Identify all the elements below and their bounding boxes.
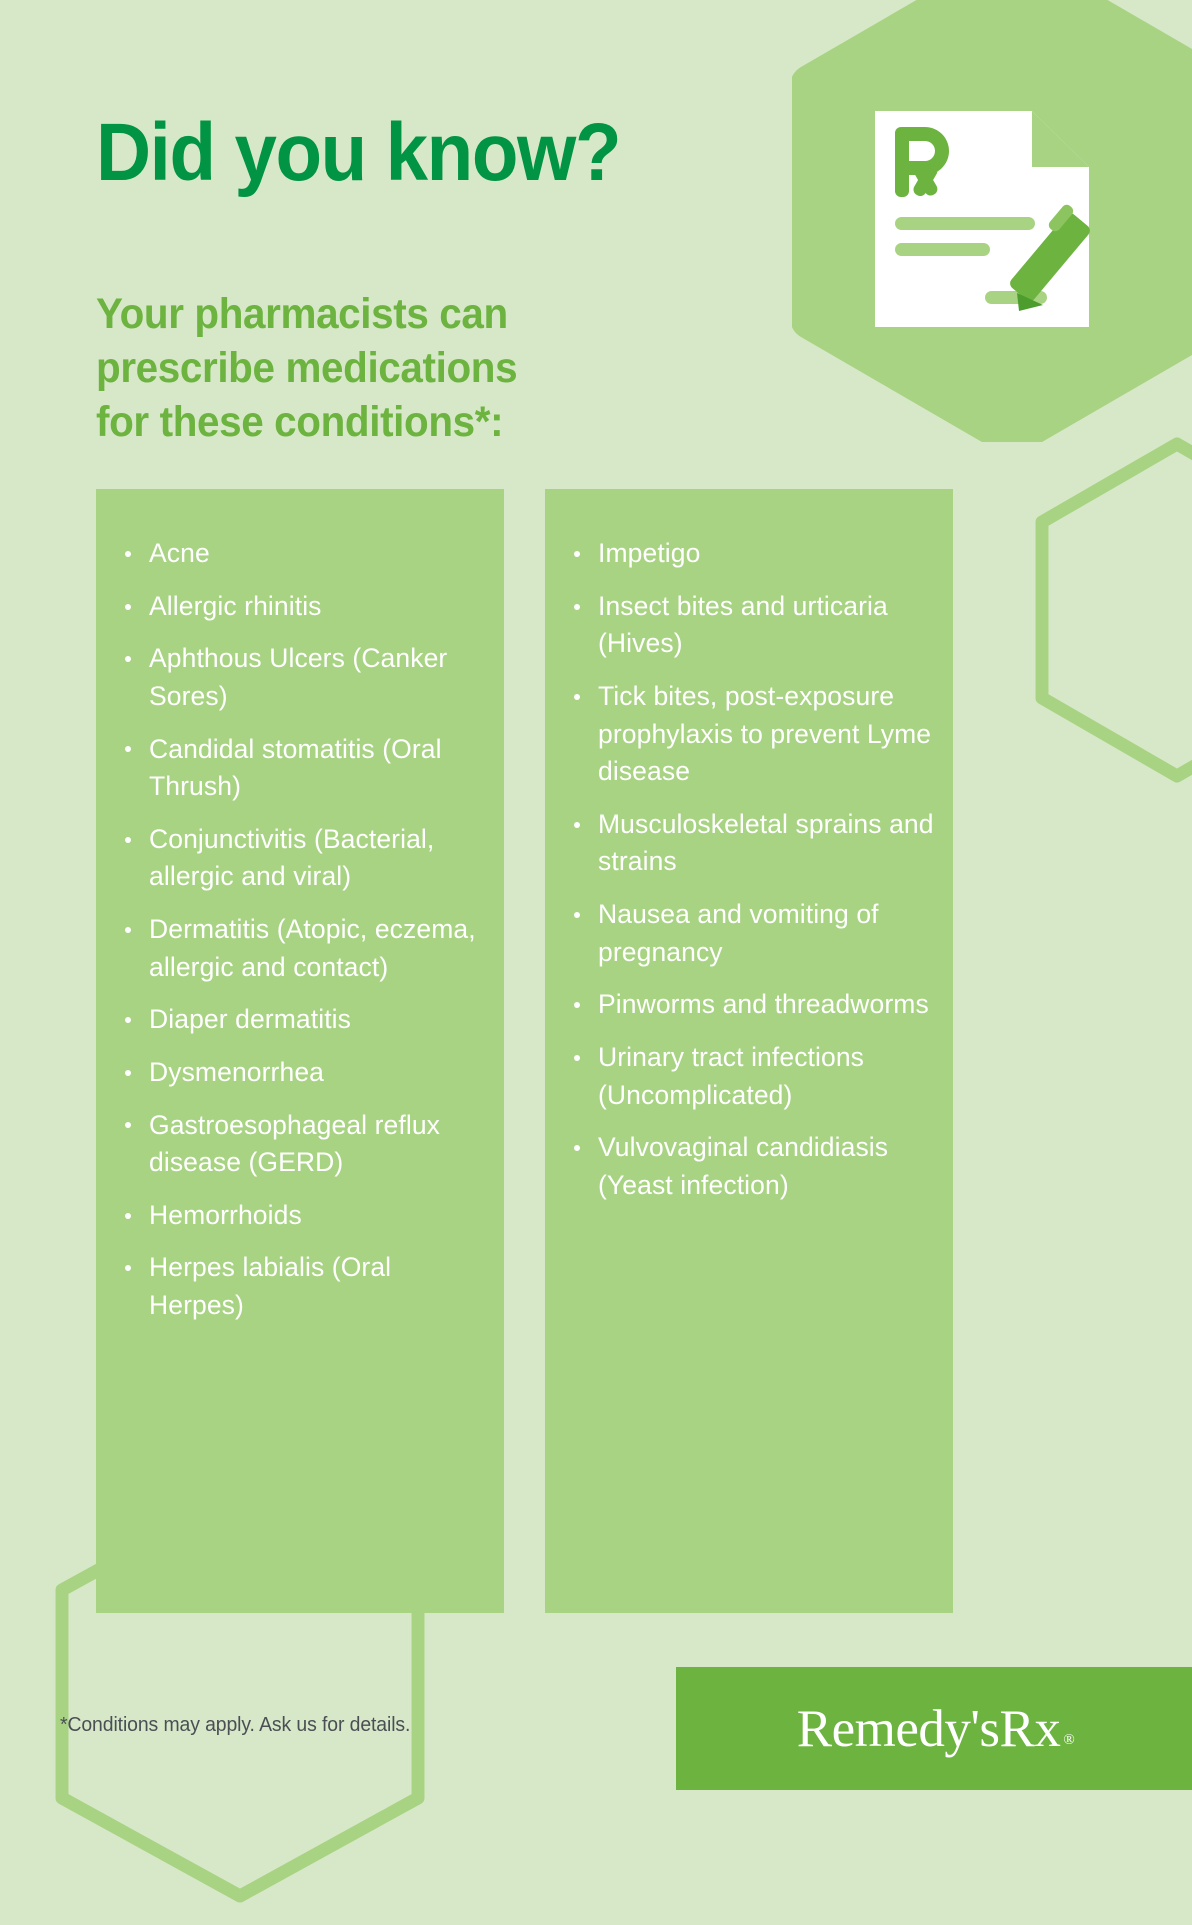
registered-trademark-icon: ® xyxy=(1063,1732,1074,1748)
condition-list-item: Dysmenorrhea xyxy=(122,1054,486,1092)
bullet-icon xyxy=(574,912,580,918)
condition-label: Nausea and vomiting of pregnancy xyxy=(598,899,879,967)
condition-label: Candidal stomatitis (Oral Thrush) xyxy=(149,734,442,802)
condition-list-item: Vulvovaginal candidiasis (Yeast infectio… xyxy=(571,1129,935,1204)
condition-list-item: Urinary tract infections (Uncomplicated) xyxy=(571,1039,935,1114)
condition-list-item: Acne xyxy=(122,535,486,573)
bullet-icon xyxy=(574,822,580,828)
bullet-icon xyxy=(125,1213,131,1219)
conditions-panel-left: AcneAllergic rhinitisAphthous Ulcers (Ca… xyxy=(96,489,504,1613)
condition-list-item: Nausea and vomiting of pregnancy xyxy=(571,896,935,971)
footnote-disclaimer: *Conditions may apply. Ask us for detail… xyxy=(60,1714,410,1737)
condition-list-item: Impetigo xyxy=(571,535,935,573)
condition-list-item: Tick bites, post-exposure prophylaxis to… xyxy=(571,678,935,791)
hexagon-outline-right-icon xyxy=(1012,430,1192,790)
brand-name: Remedy'sRx xyxy=(797,1700,1061,1758)
bullet-icon xyxy=(125,746,131,752)
condition-list-item: Pinworms and threadworms xyxy=(571,986,935,1024)
bullet-icon xyxy=(125,604,131,610)
brand-logo: Remedy'sRx® xyxy=(676,1667,1192,1790)
conditions-list-left: AcneAllergic rhinitisAphthous Ulcers (Ca… xyxy=(96,489,504,1325)
condition-list-item: Candidal stomatitis (Oral Thrush) xyxy=(122,731,486,806)
condition-label: Insect bites and urticaria (Hives) xyxy=(598,591,888,659)
conditions-list-right: ImpetigoInsect bites and urticaria (Hive… xyxy=(545,489,953,1204)
condition-label: Impetigo xyxy=(598,538,700,568)
condition-label: Pinworms and threadworms xyxy=(598,989,929,1019)
subtitle-line-3: for these conditions*: xyxy=(96,395,517,449)
bullet-icon xyxy=(125,1017,131,1023)
condition-list-item: Musculoskeletal sprains and strains xyxy=(571,806,935,881)
condition-list-item: Aphthous Ulcers (Canker Sores) xyxy=(122,640,486,715)
condition-label: Aphthous Ulcers (Canker Sores) xyxy=(149,643,447,711)
bullet-icon xyxy=(574,604,580,610)
condition-label: Herpes labialis (Oral Herpes) xyxy=(149,1252,391,1320)
condition-label: Dermatitis (Atopic, eczema, allergic and… xyxy=(149,914,476,982)
condition-list-item: Allergic rhinitis xyxy=(122,588,486,626)
bullet-icon xyxy=(574,1145,580,1151)
bullet-icon xyxy=(574,551,580,557)
conditions-panel-right: ImpetigoInsect bites and urticaria (Hive… xyxy=(545,489,953,1613)
condition-list-item: Diaper dermatitis xyxy=(122,1001,486,1039)
bullet-icon xyxy=(125,1265,131,1271)
page-title: Did you know? xyxy=(96,112,620,194)
bullet-icon xyxy=(125,1122,131,1128)
condition-label: Tick bites, post-exposure prophylaxis to… xyxy=(598,681,931,786)
bullet-icon xyxy=(125,1070,131,1076)
condition-label: Acne xyxy=(149,538,210,568)
bullet-icon xyxy=(125,551,131,557)
rx-prescription-icon xyxy=(867,105,1097,335)
bullet-icon xyxy=(574,1055,580,1061)
condition-label: Conjunctivitis (Bacterial, allergic and … xyxy=(149,824,434,892)
condition-label: Vulvovaginal candidiasis (Yeast infectio… xyxy=(598,1132,888,1200)
condition-list-item: Dermatitis (Atopic, eczema, allergic and… xyxy=(122,911,486,986)
condition-label: Allergic rhinitis xyxy=(149,591,322,621)
brand-logo-text: Remedy'sRx® xyxy=(797,1699,1072,1759)
bullet-icon xyxy=(125,927,131,933)
condition-label: Diaper dermatitis xyxy=(149,1004,351,1034)
subtitle-line-1: Your pharmacists can xyxy=(96,287,517,341)
condition-label: Dysmenorrhea xyxy=(149,1057,324,1087)
condition-list-item: Hemorrhoids xyxy=(122,1197,486,1235)
page-subtitle: Your pharmacists can prescribe medicatio… xyxy=(96,287,517,450)
condition-list-item: Gastroesophageal reflux disease (GERD) xyxy=(122,1107,486,1182)
condition-label: Gastroesophageal reflux disease (GERD) xyxy=(149,1110,440,1178)
condition-list-item: Insect bites and urticaria (Hives) xyxy=(571,588,935,663)
condition-label: Musculoskeletal sprains and strains xyxy=(598,809,934,877)
bullet-icon xyxy=(125,837,131,843)
bullet-icon xyxy=(125,656,131,662)
condition-label: Urinary tract infections (Uncomplicated) xyxy=(598,1042,864,1110)
condition-list-item: Conjunctivitis (Bacterial, allergic and … xyxy=(122,821,486,896)
bullet-icon xyxy=(574,694,580,700)
condition-label: Hemorrhoids xyxy=(149,1200,302,1230)
condition-list-item: Herpes labialis (Oral Herpes) xyxy=(122,1249,486,1324)
subtitle-line-2: prescribe medications xyxy=(96,341,517,395)
bullet-icon xyxy=(574,1002,580,1008)
